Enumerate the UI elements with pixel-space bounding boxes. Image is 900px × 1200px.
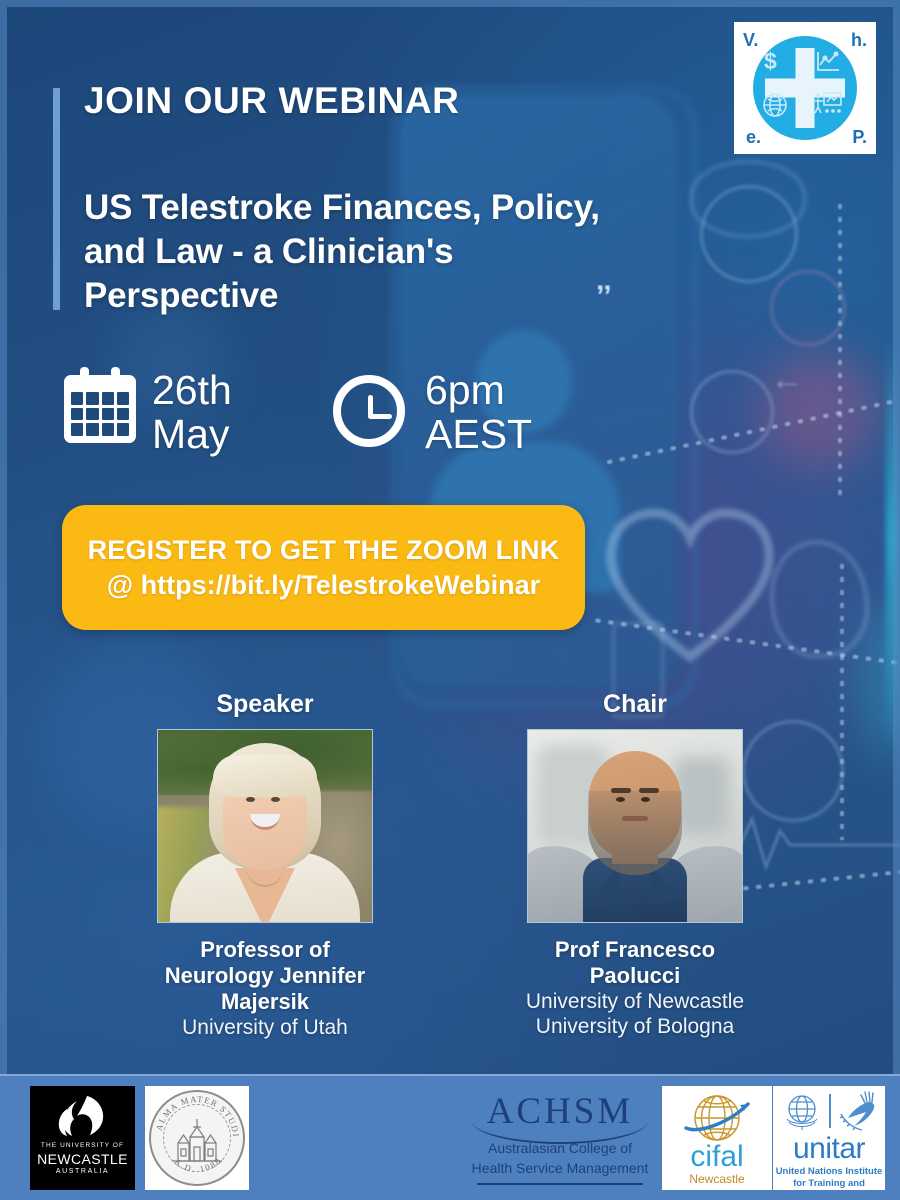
chair-org: University of Newcastle University of Bo… — [519, 989, 751, 1039]
dollar-icon: $ — [764, 48, 777, 75]
achsm-line1: Australasian College of — [455, 1140, 665, 1156]
globe-icon — [762, 92, 788, 123]
unitar-wordmark: unitar — [773, 1134, 885, 1164]
webinar-poster: ← ’’ $ — [0, 0, 900, 1200]
svg-text:ALMA MATER STUDIORUM: ALMA MATER STUDIORUM — [151, 1092, 241, 1138]
event-time-value: 6pm — [425, 368, 532, 412]
un-emblem-icon — [779, 1092, 825, 1132]
event-time-zone: AEST — [425, 412, 532, 456]
university-of-bologna-logo: ALMA MATER STUDIORUM A.D. 1088 — [145, 1086, 249, 1190]
newcastle-line1: THE UNIVERSITY OF — [30, 1142, 135, 1149]
speaker-name: Professor of Neurology Jennifer Majersik — [149, 937, 381, 1015]
chair-photo — [527, 729, 743, 923]
achsm-underline — [477, 1183, 643, 1185]
vhep-letter-p: P. — [852, 127, 867, 148]
background-circle-icon — [700, 185, 798, 283]
chair-card: Chair Prof Francesco Paolucci University… — [519, 690, 751, 1039]
clock-icon — [333, 375, 405, 447]
chair-role-label: Chair — [519, 690, 751, 719]
event-date-month: May — [152, 412, 232, 456]
event-date: 26th May — [152, 368, 232, 457]
line-chart-icon — [816, 50, 840, 77]
dove-icon — [835, 1090, 879, 1134]
cifal-wordmark: cifal — [662, 1142, 772, 1172]
background-dotted-line — [838, 200, 842, 500]
horse-head-icon — [57, 1095, 109, 1137]
background-teal-streak — [886, 330, 900, 750]
university-of-newcastle-logo: THE UNIVERSITY OF NEWCASTLE AUSTRALIA — [30, 1086, 135, 1190]
newcastle-line3: AUSTRALIA — [30, 1168, 135, 1175]
calendar-icon — [64, 367, 136, 443]
page-title: US Telestroke Finances, Policy, and Law … — [84, 186, 644, 318]
svg-text:A.D. 1088: A.D. 1088 — [172, 1155, 223, 1174]
event-time: 6pm AEST — [425, 368, 532, 457]
chair-name: Prof Francesco Paolucci — [519, 937, 751, 989]
webinar-kicker: JOIN OUR WEBINAR — [84, 80, 460, 122]
vhep-letter-h: h. — [851, 30, 867, 51]
vhep-logo: $ V. h. e. P. — [734, 22, 876, 154]
unitar-divider — [829, 1094, 831, 1128]
unitar-sub1: United Nations Institute — [773, 1166, 885, 1177]
background-dotted-line — [840, 560, 844, 840]
unitar-logo: unitar United Nations Institute for Trai… — [773, 1086, 885, 1190]
title-accent-bar — [53, 88, 60, 310]
background-circle-icon — [770, 270, 846, 346]
register-button-label: REGISTER TO GET THE ZOOM LINK — [88, 535, 560, 566]
unitar-sub2: for Training and Research — [773, 1178, 885, 1190]
event-date-day: 26th — [152, 368, 232, 412]
register-button[interactable]: REGISTER TO GET THE ZOOM LINK @ https://… — [62, 505, 585, 630]
newcastle-line2: NEWCASTLE — [30, 1151, 135, 1167]
background-arrow-icon: ← — [770, 360, 804, 399]
achsm-logo: ACHSM Australasian College of Health Ser… — [455, 1084, 665, 1192]
university-seal-icon: ALMA MATER STUDIORUM A.D. 1088 — [149, 1090, 245, 1186]
achsm-line2: Health Service Management — [455, 1160, 665, 1176]
speaker-card: Speaker Professor of Neurology Jennifer … — [149, 690, 381, 1040]
speaker-role-label: Speaker — [149, 690, 381, 719]
speaker-photo — [157, 729, 373, 923]
register-link[interactable]: @ https://bit.ly/TelestrokeWebinar — [107, 570, 540, 601]
vhep-letter-v: V. — [743, 30, 758, 51]
partner-logo-strip: THE UNIVERSITY OF NEWCASTLE AUSTRALIA — [0, 1074, 900, 1200]
cifal-sub: Newcastle — [662, 1172, 772, 1186]
presenter-icon — [814, 92, 842, 123]
vhep-letter-e: e. — [746, 127, 761, 148]
speaker-org: University of Utah — [149, 1015, 381, 1040]
cifal-newcastle-logo: cifal Newcastle — [662, 1086, 772, 1190]
